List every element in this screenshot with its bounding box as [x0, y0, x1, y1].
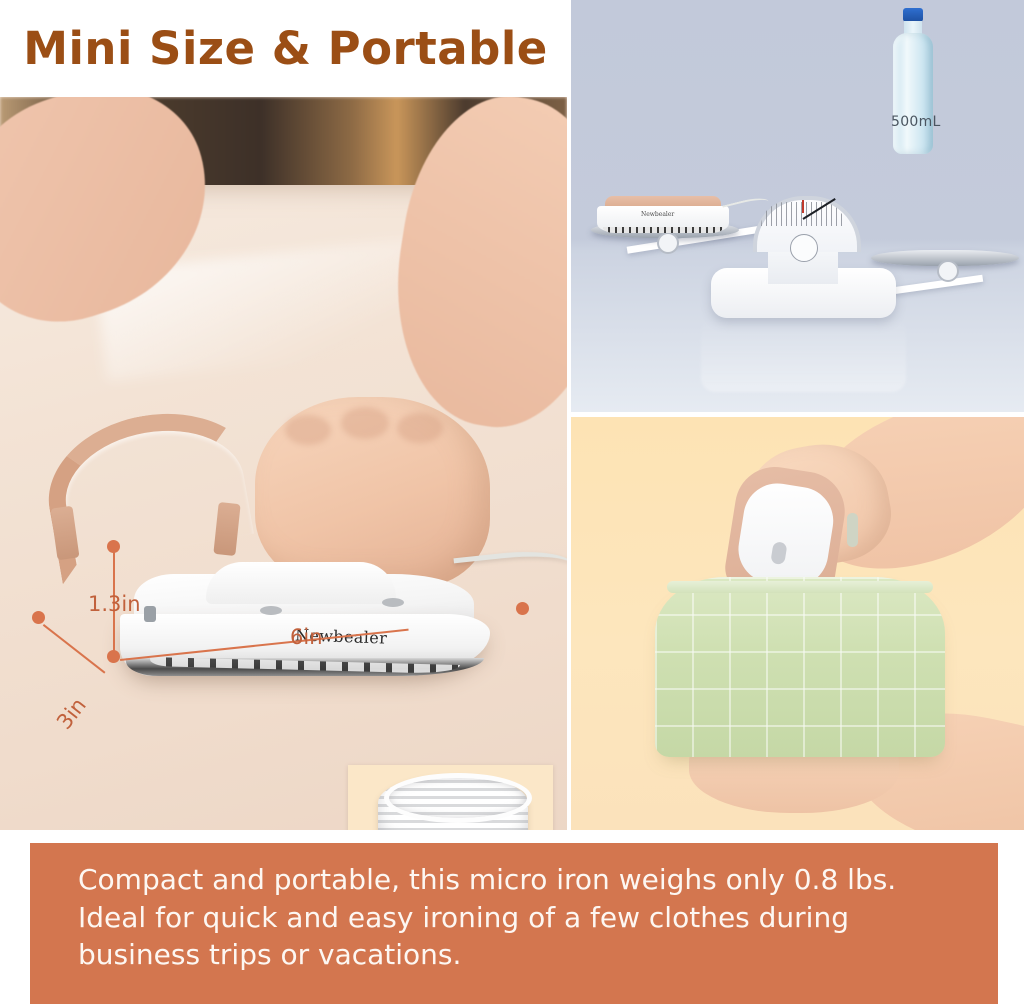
caption-banner: Compact and portable, this micro iron we…	[30, 843, 998, 1004]
scale-iron-cord	[722, 195, 770, 218]
header-banner: Mini Size & Portable	[0, 0, 571, 97]
coil-top-ring	[384, 773, 532, 823]
hero-ironing-photo: Newbealer 1.3in 3in 6in 8FT POWER CORD	[0, 97, 567, 830]
weight-comparison-photo: Newbealer 500mL	[571, 0, 1024, 412]
pouch-zipper-pull	[847, 513, 858, 547]
iron-switch	[144, 606, 156, 622]
iron-dome	[206, 562, 396, 604]
scale-iron-soleplate	[603, 227, 723, 233]
power-cord-inset: 8FT POWER CORD	[348, 765, 553, 830]
scale-iron-brand: Newbealer	[641, 211, 674, 218]
pouch-zipper	[667, 581, 933, 593]
iron-handle	[48, 415, 248, 535]
scale-pan-hook-right	[937, 260, 959, 282]
gauge-pivot	[790, 234, 818, 262]
pouch-packing-photo	[571, 417, 1024, 830]
dim-dot-corner	[107, 650, 120, 663]
dim-dot-depth	[32, 611, 45, 624]
dim-dot-length-end	[516, 602, 529, 615]
bottle-cap	[903, 8, 923, 22]
scale-reflection	[701, 318, 906, 392]
bottle-body	[893, 33, 933, 154]
gauge-center-tick	[802, 200, 804, 213]
cosmetic-pouch	[655, 577, 945, 757]
caption-text: Compact and portable, this micro iron we…	[78, 861, 968, 974]
bottle-volume-label: 500mL	[891, 114, 935, 130]
iron-indicator-left	[260, 606, 282, 615]
dim-label-height: 1.3in	[88, 592, 141, 616]
dim-label-length: 6in	[290, 625, 323, 649]
pouch-checker-texture	[655, 577, 945, 757]
page-title: Mini Size & Portable	[23, 22, 548, 75]
iron-indicator-right	[382, 598, 404, 607]
scale-iron-item: Newbealer	[597, 196, 729, 238]
mini-iron: Newbealer	[120, 522, 490, 672]
water-bottle: 500mL	[891, 8, 935, 154]
